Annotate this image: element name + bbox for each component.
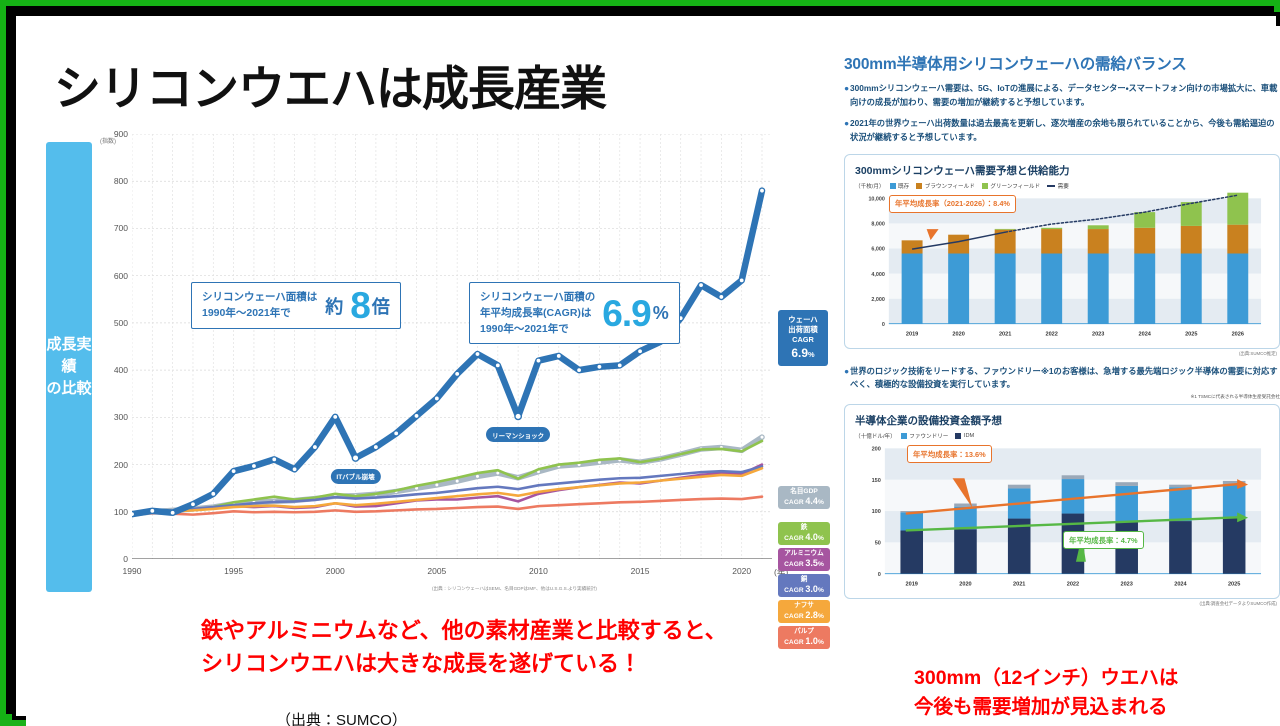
card-capex-forecast: 半導体企業の設備投資金額予想 （十億ドル/年） ファウンドリー IDM 0501… [844, 404, 1280, 599]
y-tick: 600 [102, 271, 128, 281]
slide-frame: シリコンウエハは成長産業 成長実績の比較 (指数) 01002003004005… [0, 0, 1280, 720]
y-tick: 400 [102, 365, 128, 375]
svg-text:6,000: 6,000 [871, 246, 884, 252]
final-source-label: （出典：SUMCO） [276, 709, 407, 726]
card2-annotation-foundry: 年平均成長率：13.6% [907, 445, 992, 463]
legend-label: 需要 [1058, 182, 1069, 190]
bullet-dot-icon: ● [844, 365, 849, 392]
callout-wafer-cagr: シリコンウェーハ面積の年平均成長率(CAGR)は1990年～2021年で 6.9… [469, 282, 680, 344]
card1-source: (出典:SUMCO推定) [1239, 351, 1277, 357]
bullet-text: 300mmシリコンウェーハ需要は、5G、IoTの進展による、データセンター・スマ… [850, 82, 1280, 109]
svg-text:8,000: 8,000 [871, 221, 884, 227]
card2-legend: （十億ドル/年） ファウンドリー IDM [855, 432, 1269, 440]
svg-text:0: 0 [882, 322, 885, 328]
page-title: シリコンウエハは成長産業 [54, 50, 606, 119]
card2-annotation-idm: 年平均成長率：4.7% [1063, 531, 1144, 549]
bullet-dot-icon: ● [844, 117, 849, 144]
svg-text:4,000: 4,000 [871, 272, 884, 278]
card1-chart-svg: 02,0004,0006,0008,00010,0002019202020212… [855, 192, 1269, 342]
svg-text:10,000: 10,000 [868, 196, 884, 202]
y-tick: 900 [102, 129, 128, 139]
bullet-text: 2021年の世界ウェーハ出荷数量は過去最高を更新し、逐次増産の余地も限られている… [850, 117, 1280, 144]
legend-label: ブラウンフィールド [925, 182, 975, 190]
x-tick: 2020 [732, 566, 751, 576]
svg-text:2025: 2025 [1228, 582, 1240, 588]
left-conclusion-text: 鉄やアルミニウムなど、他の素材産業と比較すると、 シリコンウエハは大きな成長を遂… [201, 614, 801, 680]
card2-title: 半導体企業の設備投資金額予想 [855, 413, 1269, 428]
card1-annotation: 年平均成長率（2021-2026）：8.4% [889, 195, 1016, 213]
callout1-value: 8 [350, 290, 370, 321]
svg-text:100: 100 [872, 509, 881, 515]
legend-item: ファウンドリー [901, 432, 949, 440]
chart-source-note: (出典：シリコンウェーハはSEMI、名目GDPはIMF、他はU.S.G.S.より… [432, 586, 597, 592]
series-label-0: ウェーハ出荷面積CAGR 6.9% [778, 310, 828, 366]
svg-text:2024: 2024 [1139, 331, 1152, 337]
left-chart-panel: 成長実績の比較 (指数) 010020030040050060070080090… [36, 134, 836, 604]
y-tick: 800 [102, 176, 128, 186]
callout2-suffix: % [653, 303, 669, 324]
side-badge-label: 成長実績の比較 [46, 334, 92, 399]
right-conclusion-line2: 今後も需要増加が見込まれる [914, 693, 1280, 722]
left-conclusion-line1: 鉄やアルミニウムなど、他の素材産業と比較すると、 [201, 614, 801, 647]
right-panel: 300mm半導体用シリコンウェーハの需給バランス ● 300mmシリコンウェーハ… [844, 52, 1280, 712]
svg-text:2020: 2020 [952, 331, 964, 337]
side-badge-growth-comparison: 成長実績の比較 [46, 142, 92, 592]
growth-index-svg [132, 134, 772, 559]
slide-page: シリコンウエハは成長産業 成長実績の比較 (指数) 01002003004005… [26, 26, 1280, 726]
legend-item: IDM [955, 433, 974, 439]
svg-text:2019: 2019 [906, 582, 918, 588]
y-tick: 300 [102, 412, 128, 422]
legend-label: 既存 [898, 182, 909, 190]
series-label-2: 鉄CAGR 4.0% [778, 522, 830, 545]
right-conclusion-line1: 300mm（12インチ）ウエハは [914, 664, 1280, 693]
bullet-item: ● 2021年の世界ウェーハ出荷数量は過去最高を更新し、逐次増産の余地も限られて… [844, 117, 1280, 144]
legend-item: 需要 [1047, 182, 1069, 190]
svg-text:2019: 2019 [906, 331, 918, 337]
x-tick: 2010 [529, 566, 548, 576]
y-tick: 200 [102, 460, 128, 470]
callout-wafer-area-8x: シリコンウェーハ面積は1990年～2021年で 約 8 倍 [191, 282, 401, 329]
svg-text:2023: 2023 [1121, 582, 1133, 588]
svg-text:2024: 2024 [1174, 582, 1187, 588]
legend-item: 既存 [890, 182, 910, 190]
callout1-text: シリコンウェーハ面積は1990年～2021年で [202, 290, 317, 322]
x-tick: 1990 [123, 566, 142, 576]
svg-text:2021: 2021 [999, 331, 1011, 337]
x-tick: 2015 [631, 566, 650, 576]
slide-inner-border: シリコンウエハは成長産業 成長実績の比較 (指数) 01002003004005… [12, 12, 1280, 720]
bullet-item: ● 300mmシリコンウェーハ需要は、5G、IoTの進展による、データセンター・… [844, 82, 1280, 109]
series-label-4: 銅CAGR 3.0% [778, 574, 830, 597]
legend-label: ファウンドリー [909, 432, 948, 440]
card-demand-supply: 300mmシリコンウェーハ需要予想と供給能力 （千枚/月） 既存 ブラウンフィー… [844, 154, 1280, 349]
svg-text:2,000: 2,000 [871, 297, 884, 303]
x-tick: 1995 [224, 566, 243, 576]
svg-text:50: 50 [875, 541, 881, 547]
legend-item: グリーンフィールド [982, 182, 1040, 190]
svg-text:2026: 2026 [1232, 331, 1244, 337]
y-tick: 0 [102, 554, 128, 564]
svg-text:2021: 2021 [1013, 582, 1025, 588]
bullet-item: ● 世界のロジック技術をリードする、ファウンドリー※1のお客様は、急増する最先端… [844, 365, 1280, 392]
chart-annotation-2009: リーマンショック [486, 427, 550, 442]
callout2-value: 6.9 [602, 298, 650, 329]
legend-label: IDM [964, 433, 974, 439]
card2-chart-svg: 0501001502002019202020212022202320242025 [855, 442, 1269, 592]
series-label-3: アルミニウムCAGR 3.5% [778, 548, 830, 571]
callout1-prefix: 約 [325, 293, 343, 319]
svg-text:2023: 2023 [1092, 331, 1104, 337]
card2-source: (出典:調査会社データよりSUMCO作成) [1200, 601, 1277, 607]
svg-text:2020: 2020 [959, 582, 971, 588]
chart-annotation-2001: ITバブル崩壊 [330, 469, 380, 484]
svg-text:150: 150 [872, 478, 881, 484]
footnote-text: ※1 TSMCに代表される半導体生産受託会社 [844, 394, 1280, 400]
svg-text:0: 0 [878, 572, 881, 578]
legend-label: グリーンフィールド [990, 182, 1040, 190]
svg-text:2025: 2025 [1185, 331, 1197, 337]
callout1-suffix: 倍 [372, 293, 390, 319]
x-tick: 2005 [427, 566, 446, 576]
card1-legend: （千枚/月） 既存 ブラウンフィールド グリーンフィールド 需要 [855, 182, 1269, 190]
svg-text:200: 200 [872, 447, 881, 453]
bullet-text: 世界のロジック技術をリードする、ファウンドリー※1のお客様は、急増する最先端ロジ… [850, 365, 1280, 392]
y-tick: 100 [102, 507, 128, 517]
series-label-1: 名目GDPCAGR 4.4% [778, 486, 830, 509]
card1-unit: （千枚/月） [855, 182, 885, 190]
svg-text:2022: 2022 [1045, 331, 1057, 337]
card1-title: 300mmシリコンウェーハ需要予想と供給能力 [855, 163, 1269, 178]
svg-text:2022: 2022 [1067, 582, 1079, 588]
right-panel-title: 300mm半導体用シリコンウェーハの需給バランス [844, 52, 1280, 74]
legend-item: ブラウンフィールド [916, 182, 975, 190]
card2-unit: （十億ドル/年） [855, 432, 896, 440]
x-tick: 2000 [326, 566, 345, 576]
bullet-dot-icon: ● [844, 82, 849, 109]
y-tick: 700 [102, 223, 128, 233]
callout2-text: シリコンウェーハ面積の年平均成長率(CAGR)は1990年～2021年で [480, 290, 595, 337]
right-conclusion-text: 300mm（12インチ）ウエハは 今後も需要増加が見込まれる [914, 664, 1280, 723]
y-tick: 500 [102, 318, 128, 328]
left-conclusion-line2: シリコンウエハは大きな成長を遂げている！ [201, 647, 801, 680]
growth-index-plot: (指数) 0100200300400500600700800900 199019… [102, 134, 802, 594]
